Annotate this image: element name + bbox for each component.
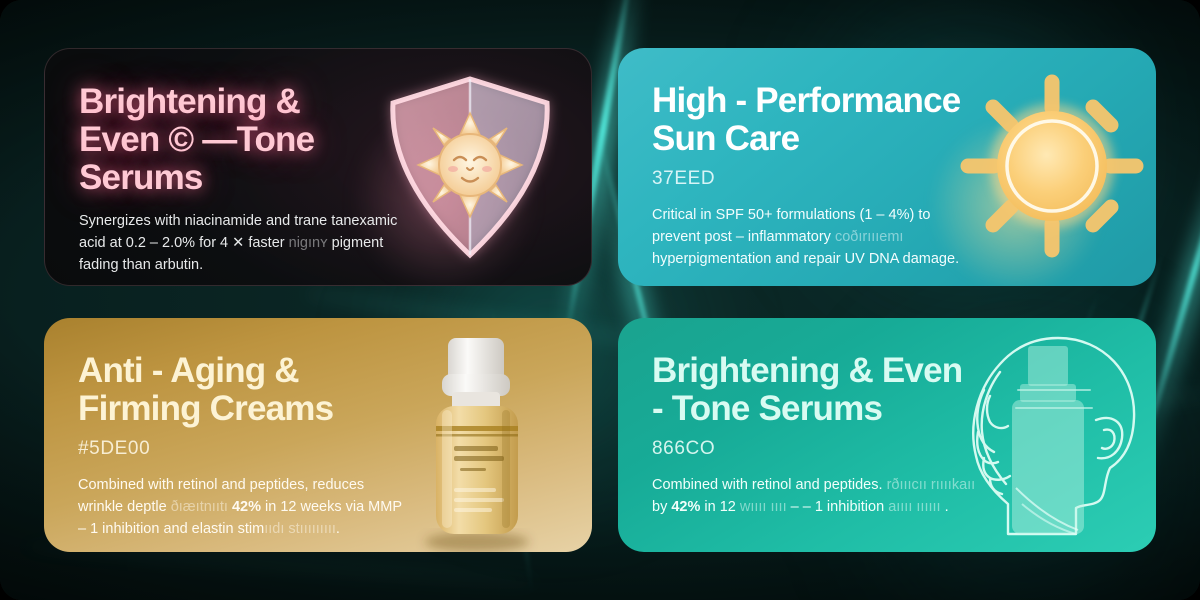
card-body: Combined with retinol and peptides. rðıı… bbox=[652, 474, 982, 518]
card-high-performance-sun-care[interactable]: High - Performance Sun Care 37EED Critic… bbox=[618, 48, 1156, 286]
card-text-block: Brightening & Even © —Tone Serums Synerg… bbox=[79, 83, 409, 276]
card-title: Brightening & Even - Tone Serums bbox=[652, 352, 982, 428]
card-grid: Brightening & Even © —Tone Serums Synerg… bbox=[44, 48, 1156, 552]
face-profile-bottle-icon bbox=[954, 328, 1154, 552]
card-body: Critical in SPF 50+ formulations (1 – 4%… bbox=[652, 204, 982, 270]
card-body: Synergizes with niacinamide and trane ta… bbox=[79, 210, 409, 276]
poster-canvas: Brightening & Even © —Tone Serums Synerg… bbox=[0, 0, 1200, 600]
card-text-block: Anti - Aging & Firming Creams #5DE00 Com… bbox=[78, 352, 408, 540]
card-title: High - Performance Sun Care bbox=[652, 82, 982, 158]
serum-bottle-icon bbox=[402, 330, 552, 552]
card-code: 37EED bbox=[652, 168, 982, 190]
card-title: Anti - Aging & Firming Creams bbox=[78, 352, 408, 428]
card-code: 866CO bbox=[652, 438, 982, 460]
card-brightening-even-tone-serums-teal[interactable]: Brightening & Even - Tone Serums 866CO C… bbox=[618, 318, 1156, 552]
card-text-block: Brightening & Even - Tone Serums 866CO C… bbox=[652, 352, 982, 518]
card-text-block: High - Performance Sun Care 37EED Critic… bbox=[652, 82, 982, 270]
card-anti-aging-firming-creams[interactable]: Anti - Aging & Firming Creams #5DE00 Com… bbox=[44, 318, 592, 552]
card-title: Brightening & Even © —Tone Serums bbox=[79, 83, 409, 196]
bottle-silhouette bbox=[1012, 346, 1084, 534]
card-body: Combined with retinol and peptides, redu… bbox=[78, 474, 408, 540]
card-code: #5DE00 bbox=[78, 438, 408, 460]
card-brightening-even-tone-serums-dark[interactable]: Brightening & Even © —Tone Serums Synerg… bbox=[44, 48, 592, 286]
